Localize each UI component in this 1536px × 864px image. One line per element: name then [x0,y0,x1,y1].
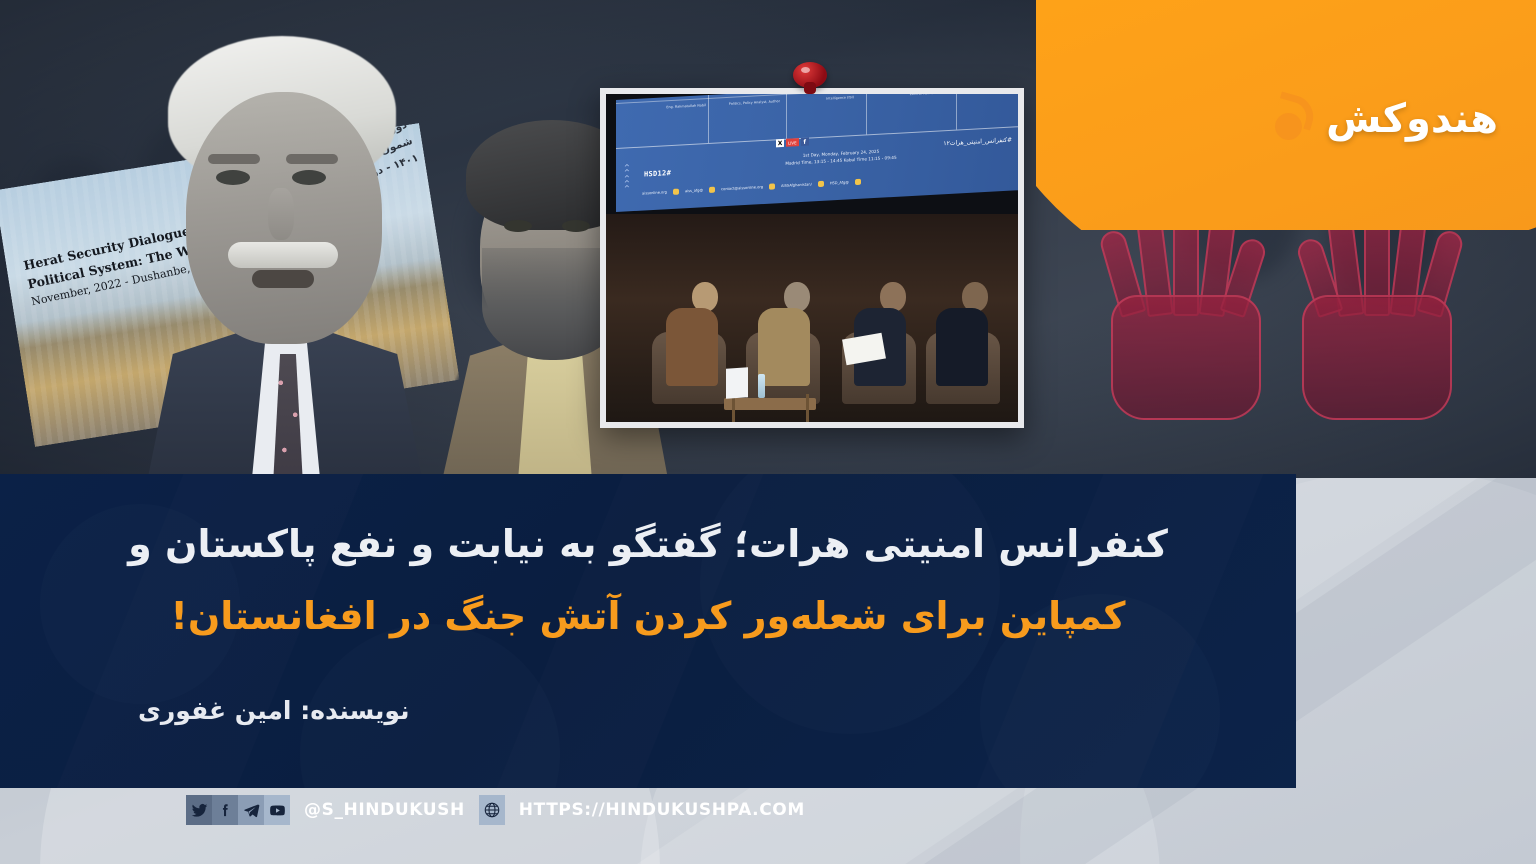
eye-right [562,220,590,232]
eyebrow-left [208,154,260,164]
facebook-contact-icon [818,181,824,187]
screen-hashtag: #HSD12 [644,169,671,178]
screen-contact-5: aissonline.org [642,190,667,195]
telegram-icon[interactable] [238,795,264,825]
brand-logo-text: هندوکش [1326,99,1498,139]
x-contact-icon [855,179,861,185]
screen-contact-4: @aiss_afg [685,188,703,193]
headline-panel: کنفرانس امنیتی هرات؛ گفتگو به نیابت و نف… [0,474,1296,788]
screen-contact-1: @HSD_Afg [830,180,849,185]
website-contact-icon [673,189,679,195]
news-graphic-card: Herat Security Dialogue (HSD-X) Politica… [0,0,1536,864]
eye-left [504,220,532,232]
x-badge: X [776,139,784,147]
screen-contact-3: contact@aissonline.org [721,185,763,191]
website-url: HTTPS://HINDUKUSHPA.COM [519,800,805,820]
conference-panel-photo: Eng. Rahmatullah Nabil Politics, Policy … [600,88,1024,428]
email-contact-icon [769,183,775,189]
facebook-icon[interactable] [212,795,238,825]
social-handle: @S_HINDUKUSH [304,800,465,820]
nose [268,188,294,240]
eye-left [216,170,250,185]
eyebrow-right [286,154,338,164]
globe-icon [479,795,505,825]
instagram-contact-icon [709,187,715,193]
eye-right [292,170,326,185]
twitter-icon[interactable] [186,795,212,825]
side-table [724,398,816,410]
headline-line-1: کنفرانس امنیتی هرات؛ گفتگو به نیابت و نف… [60,508,1236,580]
screen-chevrons: ^^^^^ [624,165,630,192]
moustache [228,242,338,268]
mouth [252,270,314,288]
author-byline: نویسنده: امین غفوری [0,696,1296,725]
panelist-4 [936,282,988,386]
brand-logo[interactable]: هندوکش [1271,96,1498,142]
hindukush-mark-icon [1271,96,1317,142]
push-pin-icon [793,62,827,108]
page-title: کنفرانس امنیتی هرات؛ گفتگو به نیابت و نف… [60,508,1236,652]
footer-bar: @S_HINDUKUSH HTTPS://HINDUKUSHPA.COM [0,788,1536,832]
portrait-white-haired-man [120,36,450,478]
panelist-2 [758,282,810,386]
youtube-icon[interactable] [264,795,290,825]
headline-line-2: کمپاین برای شعله‌ور کردن آتش جنگ در افغا… [60,580,1236,652]
water-bottle [758,374,765,398]
panelist-1 [666,282,718,386]
live-badge: LIVE [786,138,799,147]
facebook-badge: f [801,138,809,146]
name-placard [726,367,748,399]
screen-contact-2: /AISSAfghanistan [781,182,812,188]
stage-area [606,214,1024,428]
